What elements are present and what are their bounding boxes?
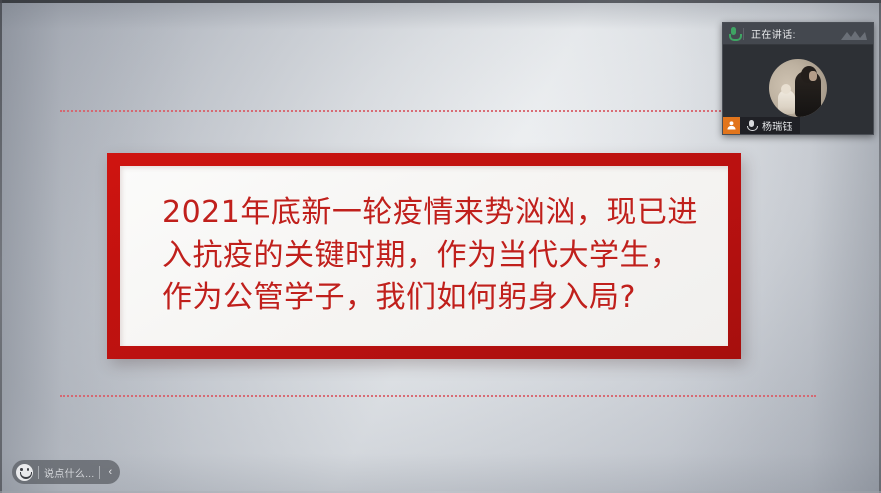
slide-text-line-2: 入抗疫的关键时期，作为当代大学生， bbox=[162, 235, 681, 278]
avatar-secondary-head bbox=[781, 84, 791, 94]
slide-text-body: 2021年底新一轮疫情来势汹汹，现已进 入抗疫的关键时期，作为当代大学生， 作为… bbox=[120, 166, 728, 346]
chat-input-bar[interactable]: 说点什么... ‹ bbox=[12, 460, 120, 484]
chat-input-placeholder[interactable]: 说点什么... bbox=[44, 465, 98, 480]
emoji-eye-right bbox=[27, 468, 30, 471]
audio-wave-icon bbox=[841, 28, 867, 40]
chevron-left-icon[interactable]: ‹ bbox=[105, 467, 116, 478]
slide-text-frame: 2021年底新一轮疫情来势汹汹，现已进 入抗疫的关键时期，作为当代大学生， 作为… bbox=[107, 153, 741, 359]
decorative-dotted-rule-top bbox=[60, 110, 832, 112]
emoji-eye-left bbox=[20, 468, 23, 471]
slide-text-line-3: 作为公管学子，我们如何躬身入局? bbox=[162, 277, 636, 320]
screen-edge-left bbox=[0, 0, 2, 493]
speaker-name-bar: 杨瑞钰 bbox=[723, 117, 800, 134]
speaker-panel-header: 正在讲话: bbox=[723, 23, 873, 45]
emoji-smiley-icon[interactable] bbox=[16, 464, 33, 481]
speaker-video-panel[interactable]: 正在讲话: bbox=[722, 22, 874, 135]
decorative-dotted-rule-bottom bbox=[60, 395, 816, 397]
speaker-name-label: 杨瑞钰 bbox=[762, 118, 793, 133]
avatar-face bbox=[809, 71, 817, 81]
shared-screen: 2021年底新一轮疫情来势汹汹，现已进 入抗疫的关键时期，作为当代大学生， 作为… bbox=[0, 0, 881, 493]
slide-text-line-1: 2021年底新一轮疫情来势汹汹，现已进 bbox=[162, 192, 698, 235]
header-divider bbox=[743, 28, 744, 40]
microphone-icon bbox=[745, 119, 758, 132]
host-icon bbox=[723, 117, 740, 134]
emoji-mouth bbox=[20, 472, 32, 479]
speaker-video-body: 杨瑞钰 bbox=[723, 45, 873, 134]
screen-edge-top bbox=[0, 0, 881, 3]
speaking-status-label: 正在讲话: bbox=[751, 26, 796, 41]
avatar bbox=[769, 59, 827, 117]
microphone-icon bbox=[729, 27, 738, 40]
chat-divider bbox=[38, 466, 39, 479]
chat-divider-right bbox=[99, 466, 100, 479]
